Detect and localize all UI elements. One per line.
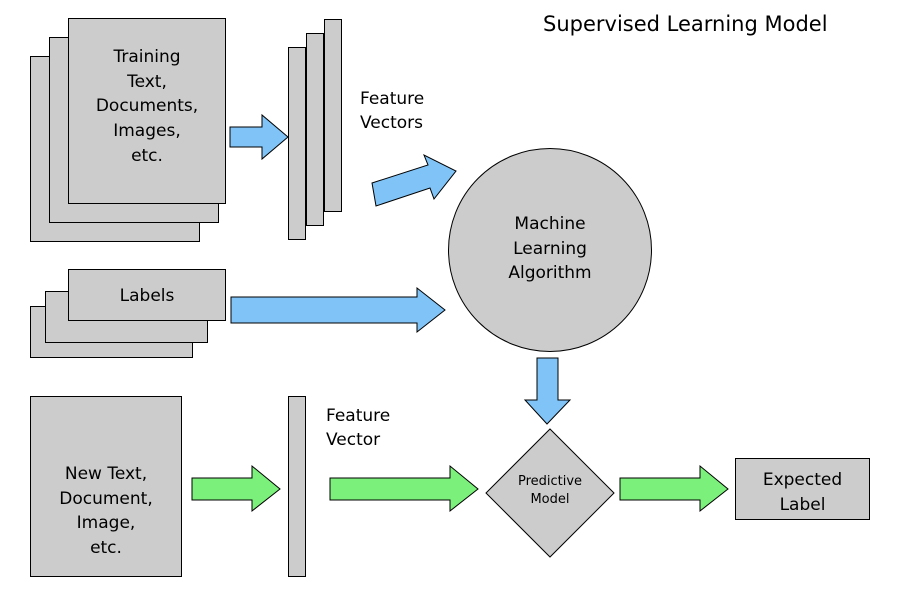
arrow-algorithm-to-model: [525, 358, 575, 426]
feature-vector-caption: Feature Vector: [326, 405, 390, 453]
feature-vector-back: [288, 47, 306, 240]
ml-algorithm-label: Machine Learning Algorithm: [448, 212, 652, 286]
new-text-box-label: New Text, Document, Image, etc.: [30, 462, 182, 561]
training-stack-label: Training Text, Documents, Images, etc.: [68, 45, 226, 168]
arrow-training-to-features: [230, 115, 290, 160]
feature-vector-mid: [306, 33, 324, 226]
labels-stack-label: Labels: [68, 284, 226, 309]
arrow-vector-to-model: [330, 466, 480, 514]
expected-label-text: Expected Label: [735, 468, 870, 517]
arrow-model-to-expected-label: [620, 466, 730, 514]
feature-vector-front[interactable]: [324, 19, 342, 212]
arrow-labels-to-algorithm: [231, 288, 446, 338]
feature-vector-bar[interactable]: [288, 396, 306, 577]
diagram-canvas: Supervised Learning Model Training Text,…: [0, 0, 900, 600]
arrow-features-to-algorithm: [370, 155, 460, 245]
feature-vectors-caption: Feature Vectors: [360, 88, 424, 136]
predictive-model-label: Predictive Model: [485, 473, 615, 508]
arrow-newtext-to-vector: [192, 466, 282, 514]
page-title: Supervised Learning Model: [543, 12, 828, 36]
